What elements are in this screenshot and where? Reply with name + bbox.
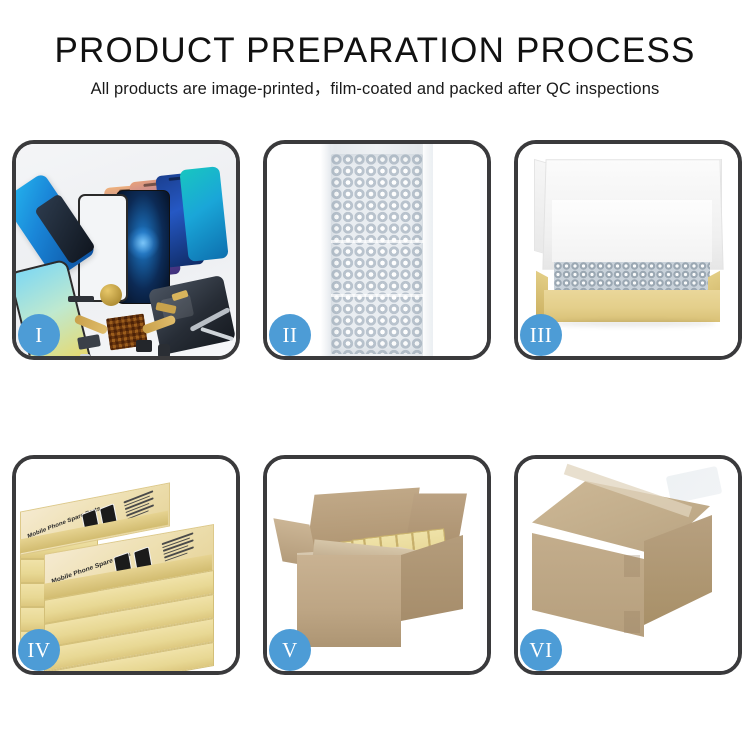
drop-shadow	[548, 320, 716, 327]
step-badge-6: VI	[520, 629, 562, 671]
carton-seam-tab	[624, 555, 640, 577]
sim-tray-icon	[80, 354, 90, 356]
earpiece-speaker-icon	[68, 296, 94, 302]
pouch-seam	[331, 240, 423, 243]
step-panel-2: II	[263, 140, 491, 360]
header: PRODUCT PREPARATION PROCESS All products…	[0, 30, 750, 100]
vibration-motor-icon	[100, 284, 122, 306]
step-panel-1: I	[12, 140, 240, 360]
step-badge-1: I	[18, 314, 60, 356]
product-preparation-process-infographic: PRODUCT PREPARATION PROCESS All products…	[0, 0, 750, 750]
foam-padding-icon	[552, 200, 712, 262]
step-badge-3: III	[520, 314, 562, 356]
pouch-edge	[423, 144, 433, 356]
step-badge-2: II	[269, 314, 311, 356]
stretch-wrap-icon	[666, 466, 723, 504]
carton-front-panel	[297, 555, 401, 647]
process-steps-grid: I II	[12, 140, 742, 676]
bubble-wrap-pouch-icon	[321, 144, 433, 356]
small-part-icon	[136, 340, 152, 352]
step-badge-5: V	[269, 629, 311, 671]
step-panel-3: III	[514, 140, 742, 360]
phone-device-icon	[179, 166, 228, 262]
step-panel-4: Mobile Phone Spare Parts Mobile Phone Sp…	[12, 455, 240, 675]
pouch-seam	[331, 294, 423, 297]
step-panel-5: V	[263, 455, 491, 675]
carton-seam-tab	[624, 611, 640, 633]
step-badge-4: IV	[18, 629, 60, 671]
step-panel-6: VI	[514, 455, 742, 675]
page-title: PRODUCT PREPARATION PROCESS	[0, 30, 750, 72]
camera-module-icon	[77, 334, 101, 350]
pouch-edge	[321, 144, 331, 356]
small-part-icon	[158, 344, 170, 356]
kraft-tray-front	[544, 290, 720, 322]
bubble-wrapped-units-icon	[554, 262, 710, 292]
page-subtitle: All products are image-printed，film-coat…	[0, 78, 750, 100]
bubble-texture	[331, 154, 423, 354]
